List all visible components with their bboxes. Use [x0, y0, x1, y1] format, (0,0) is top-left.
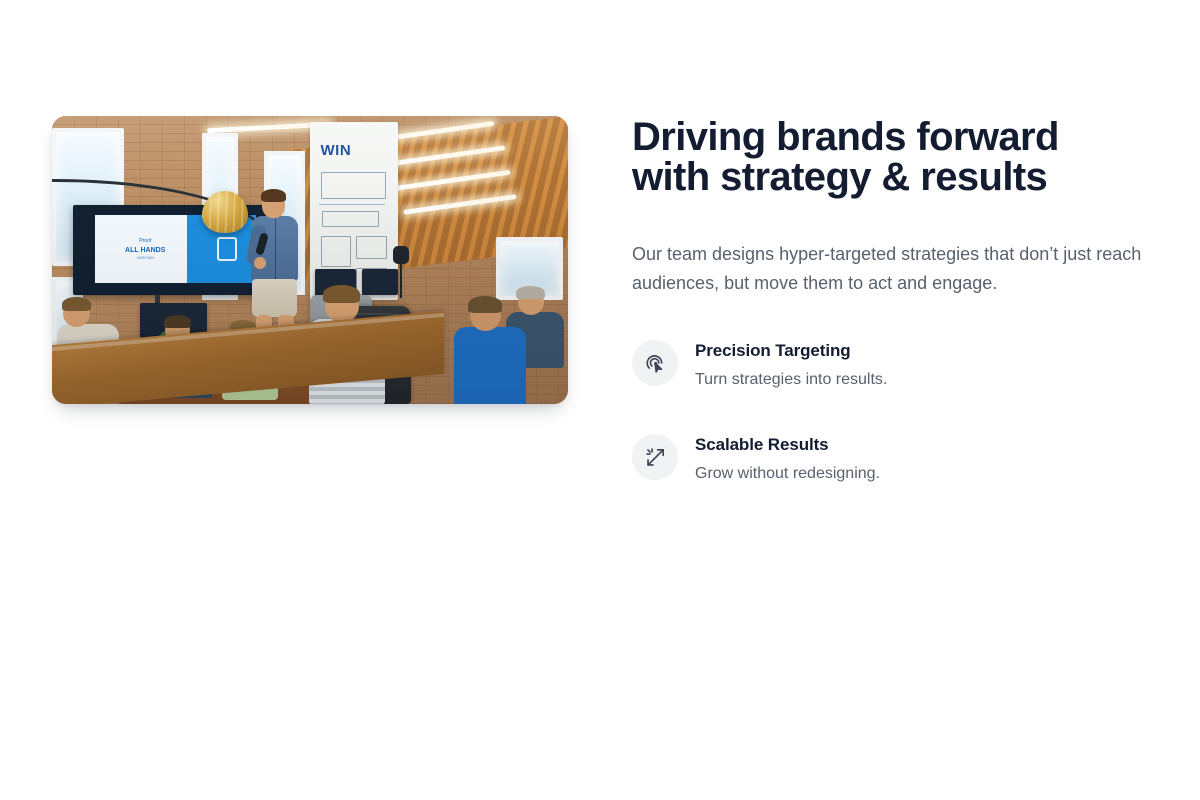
feature-item-scalable-results: Scalable Results Grow without redesignin…: [632, 433, 1148, 485]
presenter-hair: [261, 189, 286, 202]
whiteboard-word: WIN: [321, 143, 352, 158]
feature-item-precision-targeting: Precision Targeting Turn strategies into…: [632, 339, 1148, 391]
brass-lamp-shade: [202, 191, 248, 233]
person-hair: [164, 315, 191, 328]
person-hair: [323, 285, 360, 303]
feature-description: Grow without redesigning.: [695, 463, 880, 485]
whiteboard-sketch: [322, 211, 378, 227]
whiteboard-sketch: [356, 236, 388, 259]
section-subheadline: Our team designs hyper-targeted strategi…: [632, 240, 1148, 298]
person-hair: [516, 286, 545, 299]
section-grid: WIN Proof ALL HANDS: [52, 116, 1148, 485]
audience-person: [454, 300, 530, 404]
whiteboard-sketch: [319, 204, 386, 205]
whiteboard-sketch: [321, 172, 386, 199]
feature-title: Precision Targeting: [695, 340, 887, 362]
person-body: [454, 327, 526, 404]
feature-section: WIN Proof ALL HANDS: [0, 0, 1200, 800]
person-hair: [468, 296, 502, 313]
expand-arrow-icon: [632, 434, 678, 480]
media-column: WIN Proof ALL HANDS: [52, 116, 568, 404]
shirt-placket: [275, 219, 276, 279]
whiteboard-sketch: [321, 236, 351, 267]
pa-speaker: [393, 246, 409, 264]
presenter-shorts: [252, 279, 297, 317]
feature-text: Precision Targeting Turn strategies into…: [695, 339, 887, 391]
feature-title: Scalable Results: [695, 434, 880, 456]
feature-list: Precision Targeting Turn strategies into…: [632, 339, 1148, 484]
text-column: Driving brands forward with strategy & r…: [632, 116, 1148, 485]
feature-text: Scalable Results Grow without redesignin…: [695, 433, 880, 485]
presenter-hand: [254, 257, 266, 269]
office-meeting-photo: WIN Proof ALL HANDS: [52, 116, 568, 404]
click-target-icon: [632, 340, 678, 386]
feature-description: Turn strategies into results.: [695, 369, 887, 391]
section-headline: Driving brands forward with strategy & r…: [632, 117, 1132, 197]
person-hair: [62, 297, 91, 311]
photo-canvas: WIN Proof ALL HANDS: [52, 116, 568, 404]
